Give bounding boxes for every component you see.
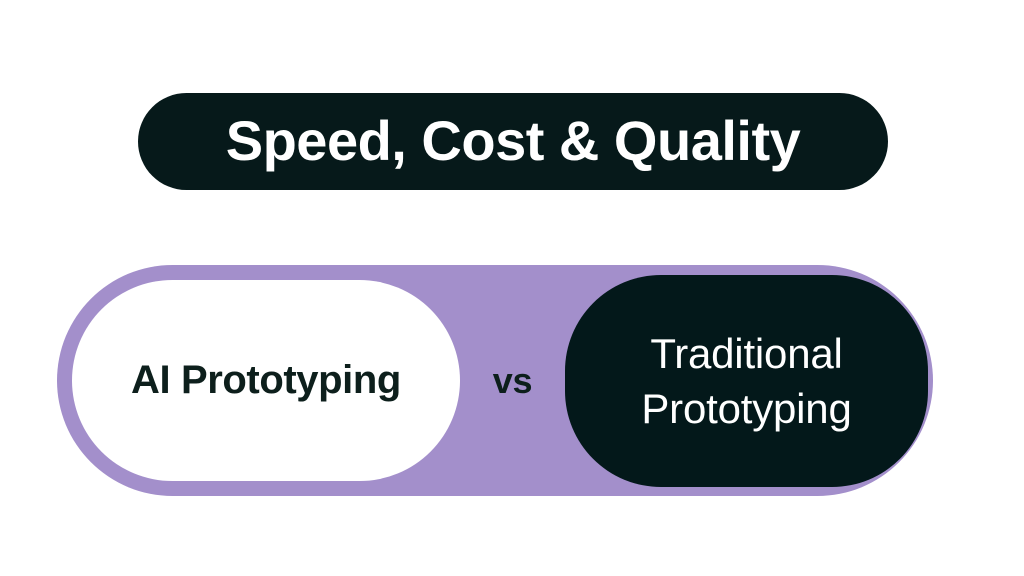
title-pill: Speed, Cost & Quality xyxy=(138,93,888,190)
comparison-option-ai[interactable]: AI Prototyping xyxy=(72,280,460,481)
slide-canvas: Speed, Cost & Quality AI Prototyping vs … xyxy=(0,0,1024,576)
comparison-option-traditional-line1: Traditional xyxy=(650,330,842,377)
comparison-capsule: AI Prototyping vs Traditional Prototypin… xyxy=(57,265,933,496)
comparison-option-traditional[interactable]: Traditional Prototyping xyxy=(565,275,928,487)
versus-divider: vs xyxy=(460,280,565,481)
comparison-option-traditional-label: Traditional Prototyping xyxy=(641,326,851,437)
page-title: Speed, Cost & Quality xyxy=(226,113,801,169)
comparison-option-ai-label: AI Prototyping xyxy=(131,359,401,402)
comparison-option-traditional-line2: Prototyping xyxy=(641,385,851,432)
versus-label: vs xyxy=(493,363,532,399)
